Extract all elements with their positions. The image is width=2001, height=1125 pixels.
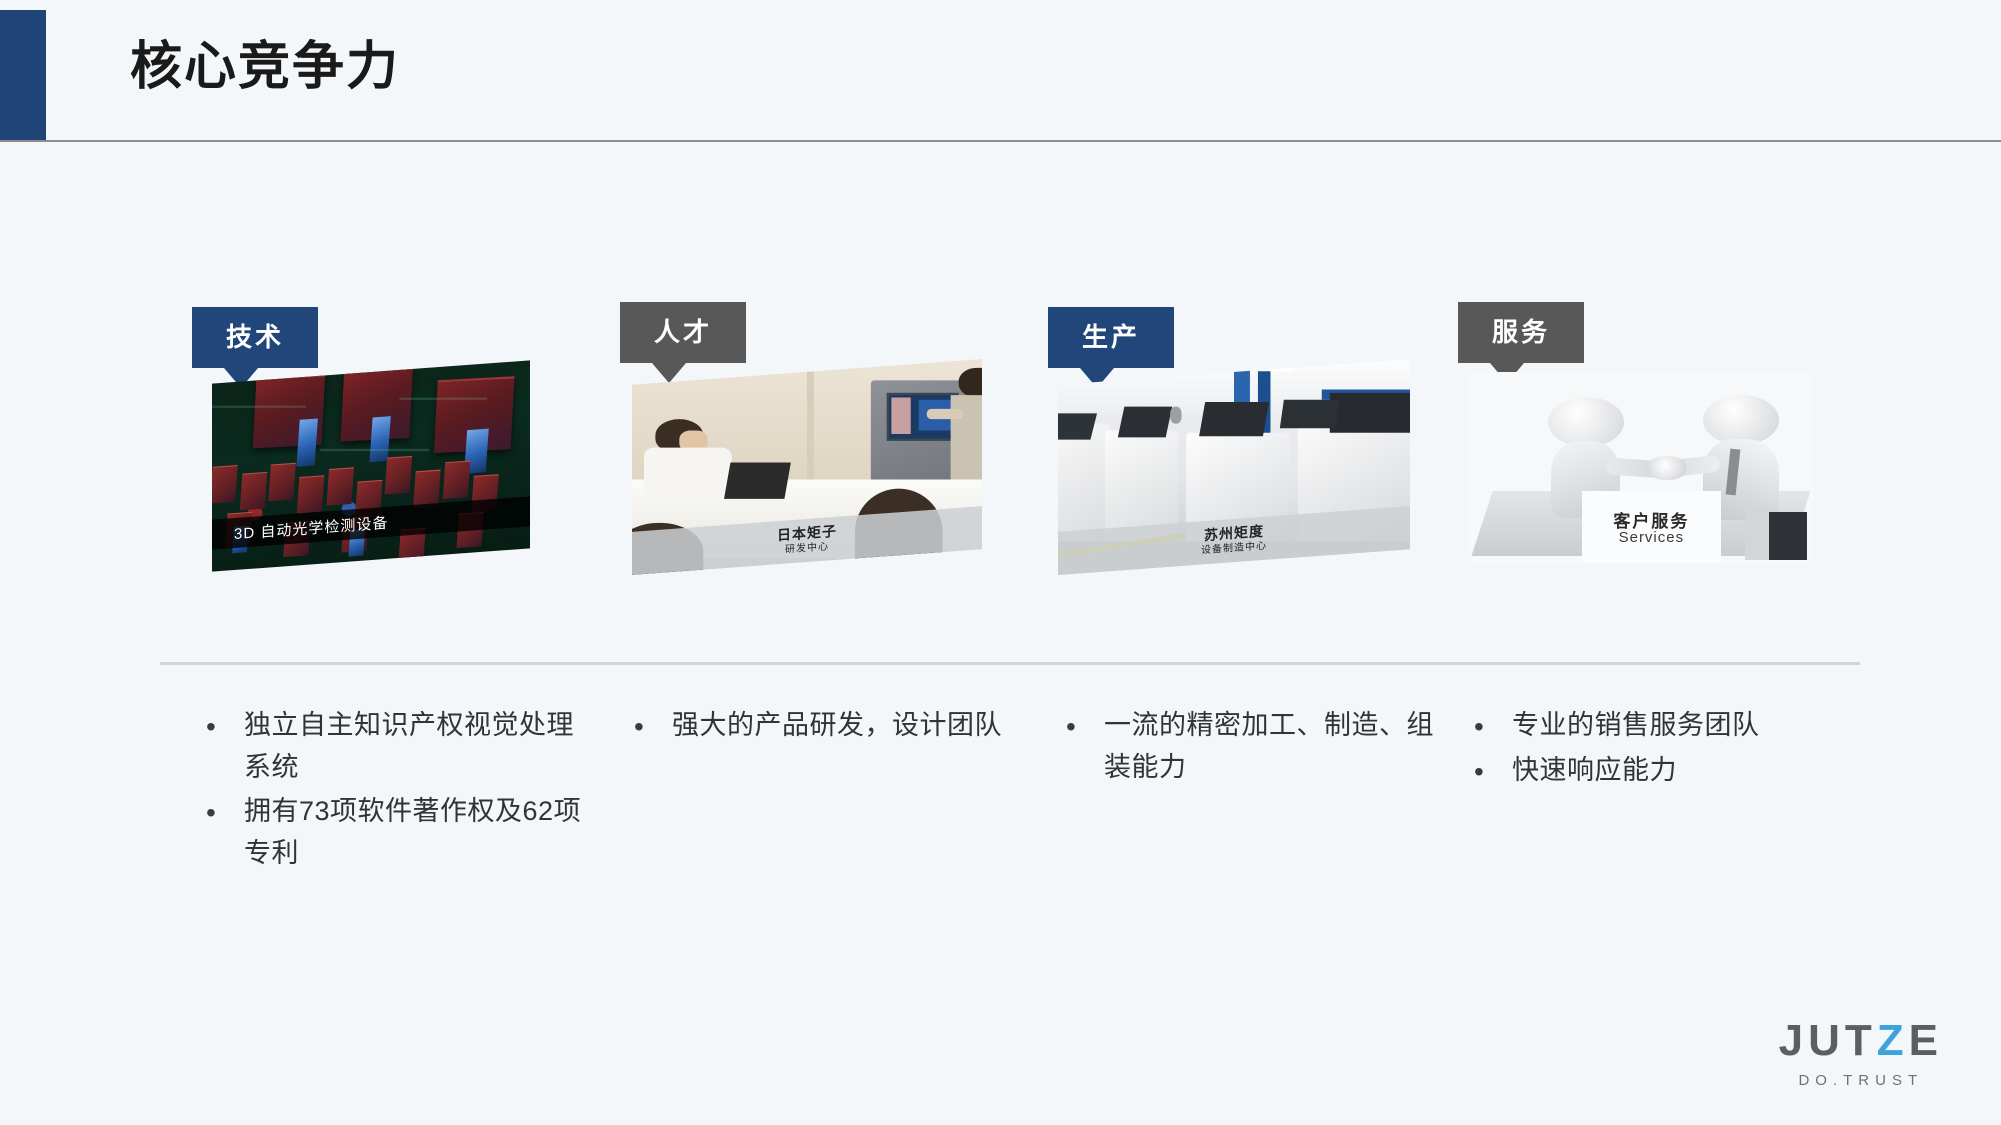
bullets-technology: • 独立自主知识产权视觉处理系统 • 拥有73项软件著作权及62项专利 — [200, 705, 600, 876]
bullet-text: 一流的精密加工、制造、组装能力 — [1104, 705, 1460, 789]
photo-service-content: 客户服务 Services — [1468, 372, 1814, 564]
company-logo: JUTZE DO.TRUST — [1779, 1016, 1943, 1089]
badge-technology: 技术 — [192, 307, 318, 368]
bullet-marker-icon: • — [200, 791, 244, 875]
bullets-talent: • 强大的产品研发，设计团队 — [628, 705, 1028, 750]
list-item: • 专业的销售服务团队 — [1468, 705, 1888, 748]
logo-tagline: DO.TRUST — [1779, 1072, 1943, 1089]
bullets-service: • 专业的销售服务团队 • 快速响应能力 — [1468, 705, 1888, 796]
badge-label: 技术 — [192, 307, 318, 368]
bullet-text: 快速响应能力 — [1512, 750, 1677, 793]
photo-customer-service: 客户服务 Services — [1468, 372, 1814, 564]
page-title: 核心竞争力 — [130, 36, 400, 98]
bullet-marker-icon: • — [1468, 705, 1512, 748]
list-item: • 一流的精密加工、制造、组装能力 — [1060, 705, 1460, 789]
badge-label: 生产 — [1048, 307, 1174, 368]
slide-root: 核心竞争力 技术 — [0, 0, 2001, 1125]
badge-service: 服务 — [1458, 302, 1584, 363]
bullet-marker-icon: • — [200, 705, 244, 789]
badge-production: 生产 — [1048, 307, 1174, 368]
logo-suffix: E — [1909, 1016, 1943, 1065]
photo-suzhou-manufacturing: 苏州矩度 设备制造中心 — [1058, 359, 1410, 575]
bullet-marker-icon: • — [1060, 705, 1104, 789]
list-item: • 独立自主知识产权视觉处理系统 — [200, 705, 600, 789]
list-item: • 强大的产品研发，设计团队 — [628, 705, 1028, 748]
bullet-text: 专业的销售服务团队 — [1512, 705, 1760, 748]
logo-wordmark: JUTZE — [1779, 1016, 1943, 1066]
content-divider — [160, 662, 1860, 665]
bullets-production: • 一流的精密加工、制造、组装能力 — [1060, 705, 1460, 791]
photo-japan-rd-center: 日本矩子 研发中心 — [632, 359, 982, 575]
bullet-marker-icon: • — [628, 705, 672, 748]
bullet-text: 拥有73项软件著作权及62项专利 — [244, 791, 600, 875]
photo-pcb-inspection: 3D 自动光学检测设备 — [212, 360, 530, 571]
logo-accent-letter: Z — [1877, 1016, 1909, 1065]
badge-label: 人才 — [620, 302, 746, 363]
header-divider — [0, 140, 2001, 142]
list-item: • 拥有73项软件著作权及62项专利 — [200, 791, 600, 875]
header-accent-bar — [0, 10, 46, 140]
photo-caption-sub: Services — [1619, 529, 1685, 546]
logo-prefix: JUT — [1779, 1016, 1877, 1065]
bullet-text: 强大的产品研发，设计团队 — [672, 705, 1002, 748]
badge-talent: 人才 — [620, 302, 746, 363]
list-item: • 快速响应能力 — [1468, 750, 1888, 793]
badge-tail-icon — [652, 363, 686, 383]
bullet-text: 独立自主知识产权视觉处理系统 — [244, 705, 600, 789]
bullet-marker-icon: • — [1468, 750, 1512, 793]
badge-label: 服务 — [1458, 302, 1584, 363]
